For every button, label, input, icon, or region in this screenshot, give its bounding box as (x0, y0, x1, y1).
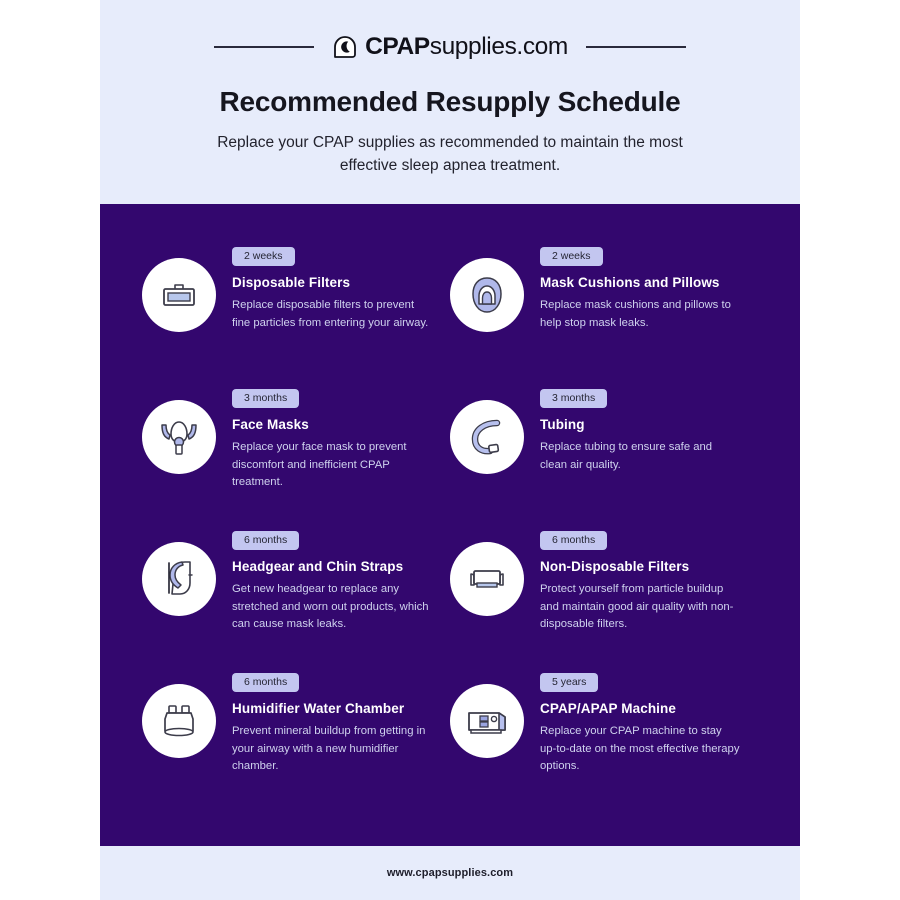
footer-website-link[interactable]: www.cpapsupplies.com (387, 867, 513, 879)
tubing-icon (450, 400, 524, 474)
item-title: CPAP/APAP Machine (540, 701, 758, 718)
interval-badge: 6 months (232, 531, 299, 551)
page-title: Recommended Resupply Schedule (100, 86, 800, 118)
brand-logo: CPAPsupplies.com (332, 34, 568, 60)
schedule-item-body: 6 months Non-Disposable Filters Protect … (540, 528, 758, 634)
item-description: Replace disposable filters to prevent fi… (232, 297, 432, 332)
interval-badge: 3 months (232, 389, 299, 409)
logo-row: CPAPsupplies.com (100, 34, 800, 60)
interval-badge: 2 weeks (232, 247, 295, 267)
item-title: Disposable Filters (232, 275, 450, 292)
page-subtitle: Replace your CPAP supplies as recommende… (200, 132, 700, 178)
schedule-item-body: 2 weeks Disposable Filters Replace dispo… (232, 244, 450, 332)
schedule-item: 6 months Headgear and Chin Straps Get ne… (142, 528, 450, 670)
schedule-grid: 2 weeks Disposable Filters Replace dispo… (100, 204, 800, 846)
schedule-item: 2 weeks Mask Cushions and Pillows Replac… (450, 244, 758, 386)
humidifier-chamber-icon (142, 684, 216, 758)
header-rule-left (214, 46, 314, 48)
schedule-item-body: 2 weeks Mask Cushions and Pillows Replac… (540, 244, 758, 332)
item-title: Humidifier Water Chamber (232, 701, 450, 718)
brand-name-bold: CPAP (365, 33, 430, 60)
schedule-item: 2 weeks Disposable Filters Replace dispo… (142, 244, 450, 386)
item-description: Replace mask cushions and pillows to hel… (540, 297, 740, 332)
item-title: Headgear and Chin Straps (232, 559, 450, 576)
cpap-machine-icon (450, 684, 524, 758)
schedule-item: 3 months Tubing Replace tubing to ensure… (450, 386, 758, 528)
item-title: Face Masks (232, 417, 450, 434)
disposable-filter-icon (142, 258, 216, 332)
brand-name-light: supplies.com (430, 33, 568, 60)
face-mask-icon (142, 400, 216, 474)
interval-badge: 5 years (540, 673, 598, 693)
non-disposable-filter-icon (450, 542, 524, 616)
item-description: Replace your face mask to prevent discom… (232, 439, 432, 492)
mask-cushion-icon (450, 258, 524, 332)
interval-badge: 6 months (540, 531, 607, 551)
interval-badge: 6 months (232, 673, 299, 693)
item-description: Get new headgear to replace any stretche… (232, 581, 432, 634)
infographic-page: CPAPsupplies.com Recommended Resupply Sc… (0, 0, 900, 900)
header-rule-right (586, 46, 686, 48)
item-title: Mask Cushions and Pillows (540, 275, 758, 292)
schedule-item: 5 years CPAP/APAP Machine Replace your C… (450, 670, 758, 812)
item-description: Prevent mineral buildup from getting in … (232, 723, 432, 776)
schedule-item-body: 3 months Face Masks Replace your face ma… (232, 386, 450, 492)
interval-badge: 3 months (540, 389, 607, 409)
item-title: Non-Disposable Filters (540, 559, 758, 576)
headgear-icon (142, 542, 216, 616)
schedule-item-body: 6 months Humidifier Water Chamber Preven… (232, 670, 450, 776)
item-description: Replace your CPAP machine to stay up-to-… (540, 723, 740, 776)
interval-badge: 2 weeks (540, 247, 603, 267)
footer: www.cpapsupplies.com (100, 846, 800, 900)
brand-name: CPAPsupplies.com (365, 35, 568, 60)
schedule-item: 6 months Non-Disposable Filters Protect … (450, 528, 758, 670)
moon-shield-icon (332, 34, 358, 60)
schedule-item: 3 months Face Masks Replace your face ma… (142, 386, 450, 528)
schedule-item-body: 6 months Headgear and Chin Straps Get ne… (232, 528, 450, 634)
header: CPAPsupplies.com Recommended Resupply Sc… (100, 0, 800, 204)
infographic-sheet: CPAPsupplies.com Recommended Resupply Sc… (100, 0, 800, 900)
schedule-item: 6 months Humidifier Water Chamber Preven… (142, 670, 450, 812)
schedule-item-body: 3 months Tubing Replace tubing to ensure… (540, 386, 758, 474)
item-title: Tubing (540, 417, 758, 434)
item-description: Protect yourself from particle buildup a… (540, 581, 740, 634)
schedule-item-body: 5 years CPAP/APAP Machine Replace your C… (540, 670, 758, 776)
item-description: Replace tubing to ensure safe and clean … (540, 439, 740, 474)
